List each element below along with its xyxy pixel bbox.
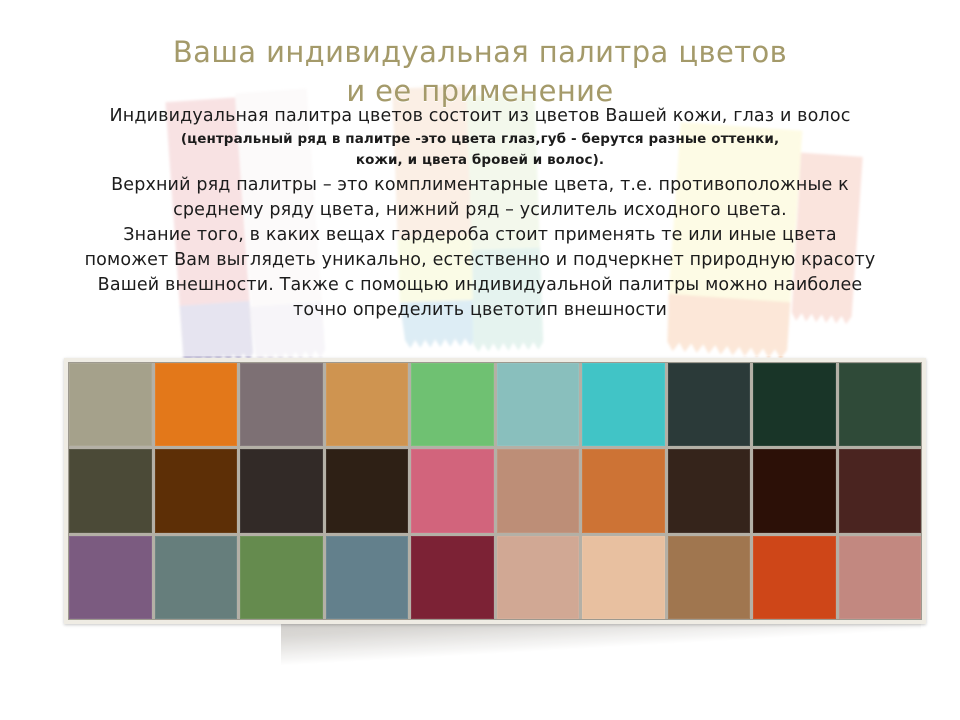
palette-swatch-r2-c3[interactable] — [240, 449, 323, 532]
body-line-9: точно определить цветотип внешности — [0, 298, 960, 323]
palette-swatch-r3-c2[interactable] — [155, 536, 238, 619]
palette-swatch-r1-c1[interactable] — [69, 363, 152, 446]
body-line-6: Знание того, в каких вещах гардероба сто… — [0, 223, 960, 248]
palette-swatch-r1-c7[interactable] — [582, 363, 665, 446]
palette-swatch-r3-c3[interactable] — [240, 536, 323, 619]
palette-swatch-r2-c7[interactable] — [582, 449, 665, 532]
palette-swatch-r2-c4[interactable] — [326, 449, 409, 532]
palette-swatch-r3-c1[interactable] — [69, 536, 152, 619]
palette-swatch-r1-c5[interactable] — [411, 363, 494, 446]
palette-swatch-r3-c9[interactable] — [753, 536, 836, 619]
palette-swatch-r3-c5[interactable] — [411, 536, 494, 619]
page-title: Ваша индивидуальная палитра цветов и ее … — [0, 33, 960, 111]
palette-swatch-r1-c8[interactable] — [668, 363, 751, 446]
palette-swatch-r2-c9[interactable] — [753, 449, 836, 532]
slide-canvas: Ваша индивидуальная палитра цветов и ее … — [0, 0, 960, 720]
palette-swatch-r1-c9[interactable] — [753, 363, 836, 446]
body-line-7: поможет Вам выглядеть уникально, естеств… — [0, 248, 960, 273]
body-line-3: кожи, и цвета бровей и волос). — [0, 150, 960, 171]
palette-swatch-r2-c1[interactable] — [69, 449, 152, 532]
body-line-8: Вашей внешности. Также с помощью индивид… — [0, 273, 960, 298]
palette-swatch-r1-c4[interactable] — [326, 363, 409, 446]
body-line-5: среднему ряду цвета, нижний ряд – усилит… — [0, 198, 960, 223]
body-line-1: Индивидуальная палитра цветов состоит из… — [0, 104, 960, 129]
palette-swatch-r3-c7[interactable] — [582, 536, 665, 619]
body-line-4: Верхний ряд палитры – это комплиментарны… — [0, 173, 960, 198]
body-line-2: (центральный ряд в палитре -это цвета гл… — [0, 129, 960, 150]
palette-swatch-r3-c8[interactable] — [668, 536, 751, 619]
color-palette-grid — [68, 362, 922, 620]
palette-swatch-r3-c4[interactable] — [326, 536, 409, 619]
palette-swatch-r3-c10[interactable] — [839, 536, 922, 619]
palette-swatch-r1-c10[interactable] — [839, 363, 922, 446]
palette-swatch-r2-c6[interactable] — [497, 449, 580, 532]
palette-swatch-r2-c10[interactable] — [839, 449, 922, 532]
palette-swatch-r1-c3[interactable] — [240, 363, 323, 446]
palette-swatch-r2-c2[interactable] — [155, 449, 238, 532]
color-palette-panel — [64, 358, 926, 624]
palette-swatch-r1-c2[interactable] — [155, 363, 238, 446]
palette-swatch-r3-c6[interactable] — [497, 536, 580, 619]
palette-swatch-r1-c6[interactable] — [497, 363, 580, 446]
palette-swatch-r2-c5[interactable] — [411, 449, 494, 532]
body-text-block: Индивидуальная палитра цветов состоит из… — [0, 104, 960, 323]
page-title-line-1: Ваша индивидуальная палитра цветов — [0, 33, 960, 72]
palette-swatch-r2-c8[interactable] — [668, 449, 751, 532]
